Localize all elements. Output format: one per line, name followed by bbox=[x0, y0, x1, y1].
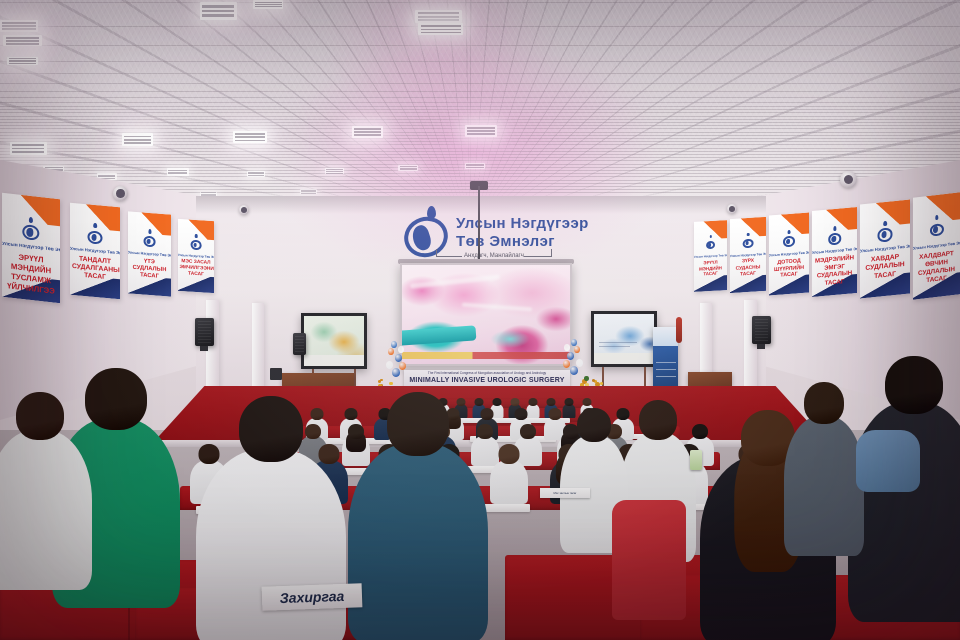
flag-logo-icon bbox=[743, 238, 754, 248]
balloon bbox=[399, 362, 406, 370]
balloon bbox=[398, 346, 404, 353]
balloon bbox=[567, 352, 574, 360]
ceiling-light bbox=[418, 23, 463, 35]
balloon bbox=[576, 359, 583, 367]
flag-logo-icon bbox=[828, 232, 842, 245]
video-overlay-bar bbox=[402, 352, 570, 359]
floor-speaker-left bbox=[293, 333, 306, 355]
person-head bbox=[528, 398, 537, 406]
wall-flag: Улсын Нэгдүгээр Төв ЭмнэлэгДОТООД ШҮҮРЛИ… bbox=[769, 213, 809, 296]
speaker-bracket bbox=[200, 346, 208, 351]
flag-department-text: МЭДРЭЛИЙН ЭМГЭГ СУДЛАЛЫН ТАСАГ bbox=[814, 255, 855, 289]
flag-org-name: Улсын Нэгдүгээр Төв Эмнэлэг bbox=[913, 240, 960, 250]
wall-sign-line2: Төв Эмнэлэг bbox=[456, 234, 555, 251]
balloon bbox=[391, 341, 397, 348]
front-row-nameplate: Мэс заслын тасаг bbox=[540, 488, 590, 498]
flag-droplet-icon bbox=[883, 221, 887, 226]
wall-flag: Улсын Нэгдүгээр Төв ЭмнэлэгМЭДРЭЛИЙН ЭМГ… bbox=[812, 207, 857, 297]
person-head bbox=[804, 382, 844, 424]
ceiling-light bbox=[300, 189, 317, 194]
balloon bbox=[388, 348, 394, 355]
logo-ring-icon bbox=[404, 217, 448, 257]
ceiling-light bbox=[0, 20, 38, 32]
person-head bbox=[639, 400, 677, 440]
wall-sign-tick-left bbox=[436, 249, 437, 257]
flag-droplet-icon bbox=[93, 223, 97, 228]
person-head bbox=[577, 408, 611, 442]
person-torso bbox=[0, 430, 92, 590]
hospital-logo bbox=[404, 213, 450, 259]
person-head bbox=[499, 444, 520, 464]
ceiling-light bbox=[398, 165, 418, 171]
flag-department-text: ДОТООД ШҮҮРЛИЙН ТАСАГ bbox=[771, 257, 808, 280]
flower bbox=[592, 379, 595, 382]
ceiling-light bbox=[3, 35, 41, 46]
person-torso bbox=[784, 416, 864, 556]
flag-org-name: Улсын Нэгдүгээр Төв Эмнэлэг bbox=[694, 253, 727, 259]
flag-org-name: Улсын Нэгдүгээр Төв Эмнэлэг bbox=[812, 247, 857, 255]
wall-flag: Улсын Нэгдүгээр Төв ЭмнэлэгЭРҮҮЛ МЭНДИЙН… bbox=[694, 220, 727, 292]
balloon bbox=[574, 346, 580, 353]
scarf bbox=[856, 430, 920, 492]
flag-department-text: ХАЛДВАРТ ӨВЧИН СУДЛАЛЫН ТАСАГ bbox=[915, 250, 958, 287]
decor-flag-pole bbox=[676, 317, 682, 343]
person-head bbox=[387, 392, 449, 456]
person-head bbox=[510, 398, 519, 406]
balloon bbox=[386, 361, 393, 369]
flag-logo-icon bbox=[143, 235, 156, 247]
flower bbox=[389, 382, 392, 385]
balloon bbox=[392, 368, 400, 377]
red-coat-on-seat bbox=[612, 500, 686, 620]
flag-logo-icon bbox=[783, 236, 795, 247]
congress-banner-superline: The First International Congress of Mong… bbox=[404, 371, 570, 375]
wall-flag: Улсын Нэгдүгээр Төв ЭмнэлэгҮТЭ СУДЛАЛЫН … bbox=[128, 211, 171, 296]
wall-ceiling-shadow bbox=[196, 196, 766, 214]
flag-department-text: ЭРҮҮЛ МЭНДИЙН ТАСАГ bbox=[695, 259, 725, 277]
flag-droplet-icon bbox=[195, 234, 198, 238]
left-tripod-screen bbox=[301, 313, 367, 369]
balloon bbox=[571, 339, 577, 346]
flag-department-text: ХАВДАР СУДЛАЛЫН ТАСАГ bbox=[862, 252, 908, 282]
audience-member bbox=[490, 444, 528, 508]
speaker-bracket bbox=[757, 344, 765, 349]
flag-org-name: Улсын Нэгдүгээр Төв Эмнэлэг bbox=[730, 252, 766, 258]
main-projection-screen bbox=[400, 263, 572, 366]
flag-department-text: ЗҮРХ СУДАСНЫ ТАСАГ bbox=[731, 258, 764, 278]
flag-logo-icon bbox=[88, 230, 103, 245]
flag-org-name: Улсын Нэгдүгээр Төв Эмнэлэг bbox=[769, 250, 809, 257]
person-head bbox=[520, 424, 536, 439]
flag-droplet-icon bbox=[788, 230, 791, 234]
flag-department-text: ЭРҮҮЛ МЭНДИЙН ТУСЛАМЖ ҮЙЛЧИЛГЭЭ bbox=[4, 251, 57, 296]
wall-flag: Улсын Нэгдүгээр Төв ЭмнэлэгХАЛДВАРТ ӨВЧИ… bbox=[913, 192, 960, 299]
right-tripod-screen bbox=[591, 311, 657, 367]
av-equipment bbox=[270, 368, 282, 380]
flag-department-text: ҮТЭ СУДЛАЛЫН ТАСАГ bbox=[130, 257, 170, 282]
flag-logo-icon bbox=[929, 223, 943, 237]
balloon bbox=[395, 354, 402, 362]
wall-flag: Улсын Нэгдүгээр Төв ЭмнэлэгЗҮРХ СУДАСНЫ … bbox=[730, 217, 766, 293]
person-torso bbox=[196, 449, 346, 640]
person-head bbox=[16, 392, 64, 440]
person-head bbox=[564, 398, 573, 406]
wall-flag: Улсын Нэгдүгээр Төв ЭмнэлэгЭРҮҮЛ МЭНДИЙН… bbox=[2, 193, 60, 304]
flag-logo-icon bbox=[22, 224, 39, 241]
wall-pilaster bbox=[744, 300, 757, 396]
ceiling-light bbox=[352, 126, 384, 138]
flag-droplet-icon bbox=[747, 233, 750, 237]
balloon bbox=[570, 366, 578, 375]
wall-flag: Улсын Нэгдүгээр Төв ЭмнэлэгХАВДАР СУДЛАЛ… bbox=[860, 199, 910, 298]
audience-member bbox=[848, 356, 960, 634]
flag-department-text: МЭС ЗАСАЛ ЭМЧИЛГЭЭНИЙ ТАСАГ bbox=[179, 259, 212, 279]
wall-clock bbox=[113, 186, 128, 201]
ceiling-light bbox=[325, 168, 344, 174]
person-head bbox=[492, 398, 501, 406]
flag-logo-icon bbox=[878, 228, 893, 243]
ceiling-light bbox=[465, 163, 485, 169]
flower bbox=[380, 379, 382, 381]
wall-sign-tick-right bbox=[551, 249, 552, 257]
person-head bbox=[85, 368, 147, 430]
ceiling-light bbox=[167, 168, 189, 175]
mobile-phone bbox=[690, 450, 702, 470]
auditorium-photo: Улсын Нэгдүгээр Төв Эмнэлэг Анхдагч, Ман… bbox=[0, 0, 960, 640]
wall-vent bbox=[727, 204, 737, 214]
ceiling-light bbox=[200, 2, 237, 20]
wall-sign-rule-right bbox=[524, 256, 552, 257]
congress-banner-headline: MINIMALLY INVASIVE UROLOGIC SURGERY bbox=[404, 377, 570, 384]
flag-department-text: ТАНДАЛТ СУДАЛГААНЫ ТАСАГ bbox=[72, 254, 118, 283]
audience-member bbox=[348, 392, 488, 640]
person-head bbox=[515, 408, 528, 420]
ceiling-light bbox=[10, 142, 47, 155]
person-torso bbox=[490, 460, 528, 504]
wall-sign-rule-left bbox=[436, 256, 462, 257]
flower bbox=[584, 376, 589, 381]
person-head bbox=[582, 398, 591, 406]
person-head bbox=[546, 398, 555, 406]
wall-vent bbox=[239, 205, 249, 215]
wall-speaker-left bbox=[195, 318, 214, 346]
ceiling-light bbox=[122, 133, 154, 146]
audience-member bbox=[784, 382, 864, 564]
projector-mount-pole bbox=[478, 186, 480, 266]
person-head bbox=[885, 356, 943, 414]
ceiling-light bbox=[253, 0, 283, 9]
seat-nameplate: Захиргаа bbox=[262, 583, 363, 610]
flag-logo-icon bbox=[706, 240, 716, 249]
flag-logo-icon bbox=[191, 240, 202, 250]
flag-droplet-icon bbox=[29, 217, 33, 223]
flag-org-name: Улсын Нэгдүгээр Төв Эмнэлэг bbox=[128, 250, 171, 257]
wall-clock bbox=[840, 171, 857, 188]
wall-flag: Улсын Нэгдүгээр Төв ЭмнэлэгТАНДАЛТ СУДАЛ… bbox=[70, 203, 120, 300]
right-screen-tripod bbox=[602, 367, 646, 387]
wall-sign-line1: Улсын Нэгдүгээр bbox=[456, 216, 589, 233]
wall-speaker-right bbox=[752, 316, 771, 344]
wall-flag: Улсын Нэгдүгээр Төв ЭмнэлэгМЭС ЗАСАЛ ЭМЧ… bbox=[178, 219, 214, 293]
wall-pilaster bbox=[252, 303, 264, 395]
balloon bbox=[564, 344, 570, 351]
ceiling-light bbox=[7, 57, 39, 66]
ceiling-light bbox=[465, 125, 497, 137]
person-head bbox=[239, 396, 303, 462]
flag-org-name: Улсын Нэгдүгээр Төв Эмнэлэг bbox=[178, 253, 214, 259]
ceiling-light bbox=[233, 131, 266, 144]
balloon bbox=[563, 360, 570, 368]
flower bbox=[600, 382, 603, 385]
ceiling-light bbox=[415, 10, 462, 23]
audience-member bbox=[0, 392, 92, 600]
side-table-right bbox=[688, 372, 732, 386]
person-torso bbox=[348, 443, 488, 640]
ceiling-light bbox=[247, 171, 266, 177]
flag-droplet-icon bbox=[833, 226, 836, 231]
